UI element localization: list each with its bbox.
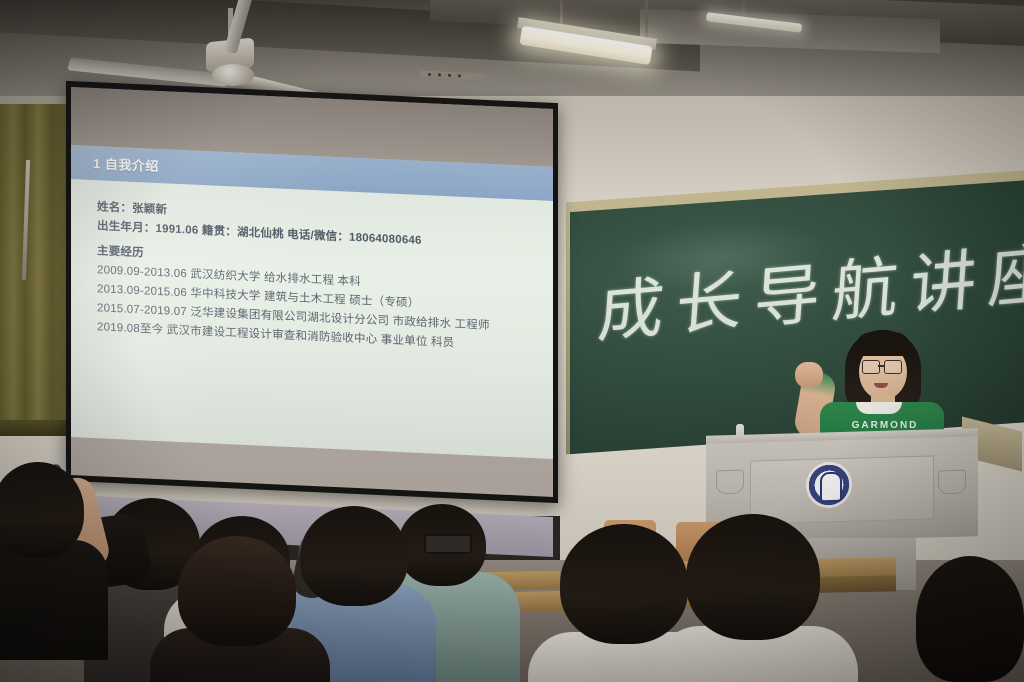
slide-title-text: 1 自我介绍	[93, 153, 159, 175]
glasses-icon	[862, 360, 880, 374]
glasses-bridge	[878, 365, 884, 367]
ceiling-fan-icon	[212, 64, 254, 86]
lectern-decor-icon	[938, 470, 966, 495]
glasses-icon	[884, 360, 902, 374]
student-with-phone	[0, 462, 84, 558]
student-foreground-right	[686, 514, 820, 640]
blackboard-frame: 成长导航讲座	[566, 170, 1024, 455]
student-far-right	[916, 556, 1024, 682]
presentation-slide: 1 自我介绍 姓名：张颖新 出生年月：1991.06 籍贯：湖北仙桃 电话/微信…	[71, 145, 553, 459]
student-denim-jacket	[300, 506, 408, 606]
student-long-hair	[178, 536, 296, 646]
crest-glyph-icon	[820, 472, 842, 503]
presenter-hair-fringe	[855, 332, 911, 356]
classroom-photo: 成长导航讲座 1 自我介绍 姓名：张颖新 出生年月：1991.06 籍贯：湖北仙…	[0, 0, 1024, 682]
presenter-collar	[856, 402, 902, 414]
list-item	[0, 540, 108, 660]
projection-screen-surface: 1 自我介绍 姓名：张颖新 出生年月：1991.06 籍贯：湖北仙桃 电话/微信…	[71, 87, 553, 497]
glasses-icon	[424, 534, 472, 554]
student-foreground-left	[560, 524, 688, 644]
projection-screen-frame: 1 自我介绍 姓名：张颖新 出生年月：1991.06 籍贯：湖北仙桃 电话/微信…	[66, 81, 558, 503]
slide-body: 姓名：张颖新 出生年月：1991.06 籍贯：湖北仙桃 电话/微信：180640…	[97, 198, 527, 357]
presenter-hand	[795, 362, 823, 388]
lectern-decor-icon	[716, 470, 744, 495]
